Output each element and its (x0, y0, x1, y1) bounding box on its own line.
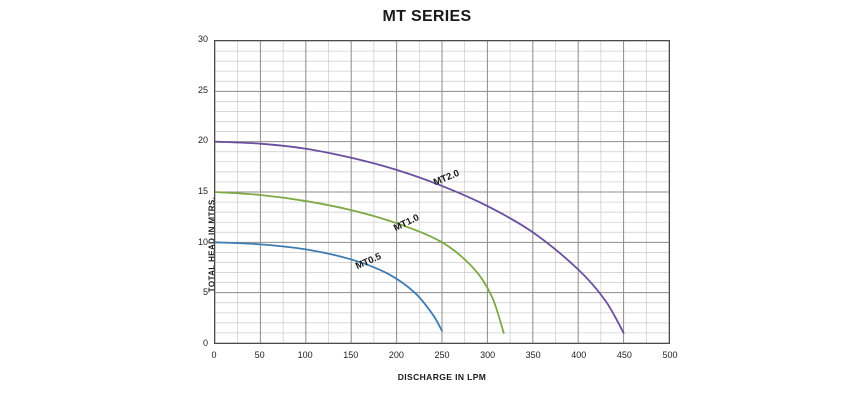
x-tick-label: 150 (336, 350, 366, 360)
x-tick-label: 350 (518, 350, 548, 360)
x-tick-label: 100 (290, 350, 320, 360)
plot-area (214, 40, 670, 344)
x-tick-label: 500 (655, 350, 685, 360)
x-tick-label: 400 (564, 350, 594, 360)
curve-layer (215, 41, 669, 343)
x-tick-label: 250 (427, 350, 457, 360)
x-tick-label: 50 (245, 350, 275, 360)
x-axis-label: DISCHARGE IN LPM (214, 372, 670, 382)
chart-title: MT SERIES (0, 8, 854, 26)
series-curve-mt2.0 (215, 142, 624, 333)
series-curve-mt0.5 (215, 242, 442, 331)
y-tick-label: 20 (182, 135, 208, 145)
x-tick-label: 450 (609, 350, 639, 360)
y-tick-label: 5 (182, 287, 208, 297)
y-tick-label: 0 (182, 338, 208, 348)
y-tick-label: 25 (182, 85, 208, 95)
y-tick-label: 10 (182, 237, 208, 247)
x-tick-label: 300 (473, 350, 503, 360)
x-tick-label: 200 (381, 350, 411, 360)
x-tick-label: 0 (199, 350, 229, 360)
y-tick-label: 15 (182, 186, 208, 196)
y-tick-label: 30 (182, 34, 208, 44)
chart-container: MT SERIES TOTAL HEAD IN MTRS. 0510152025… (0, 0, 854, 400)
